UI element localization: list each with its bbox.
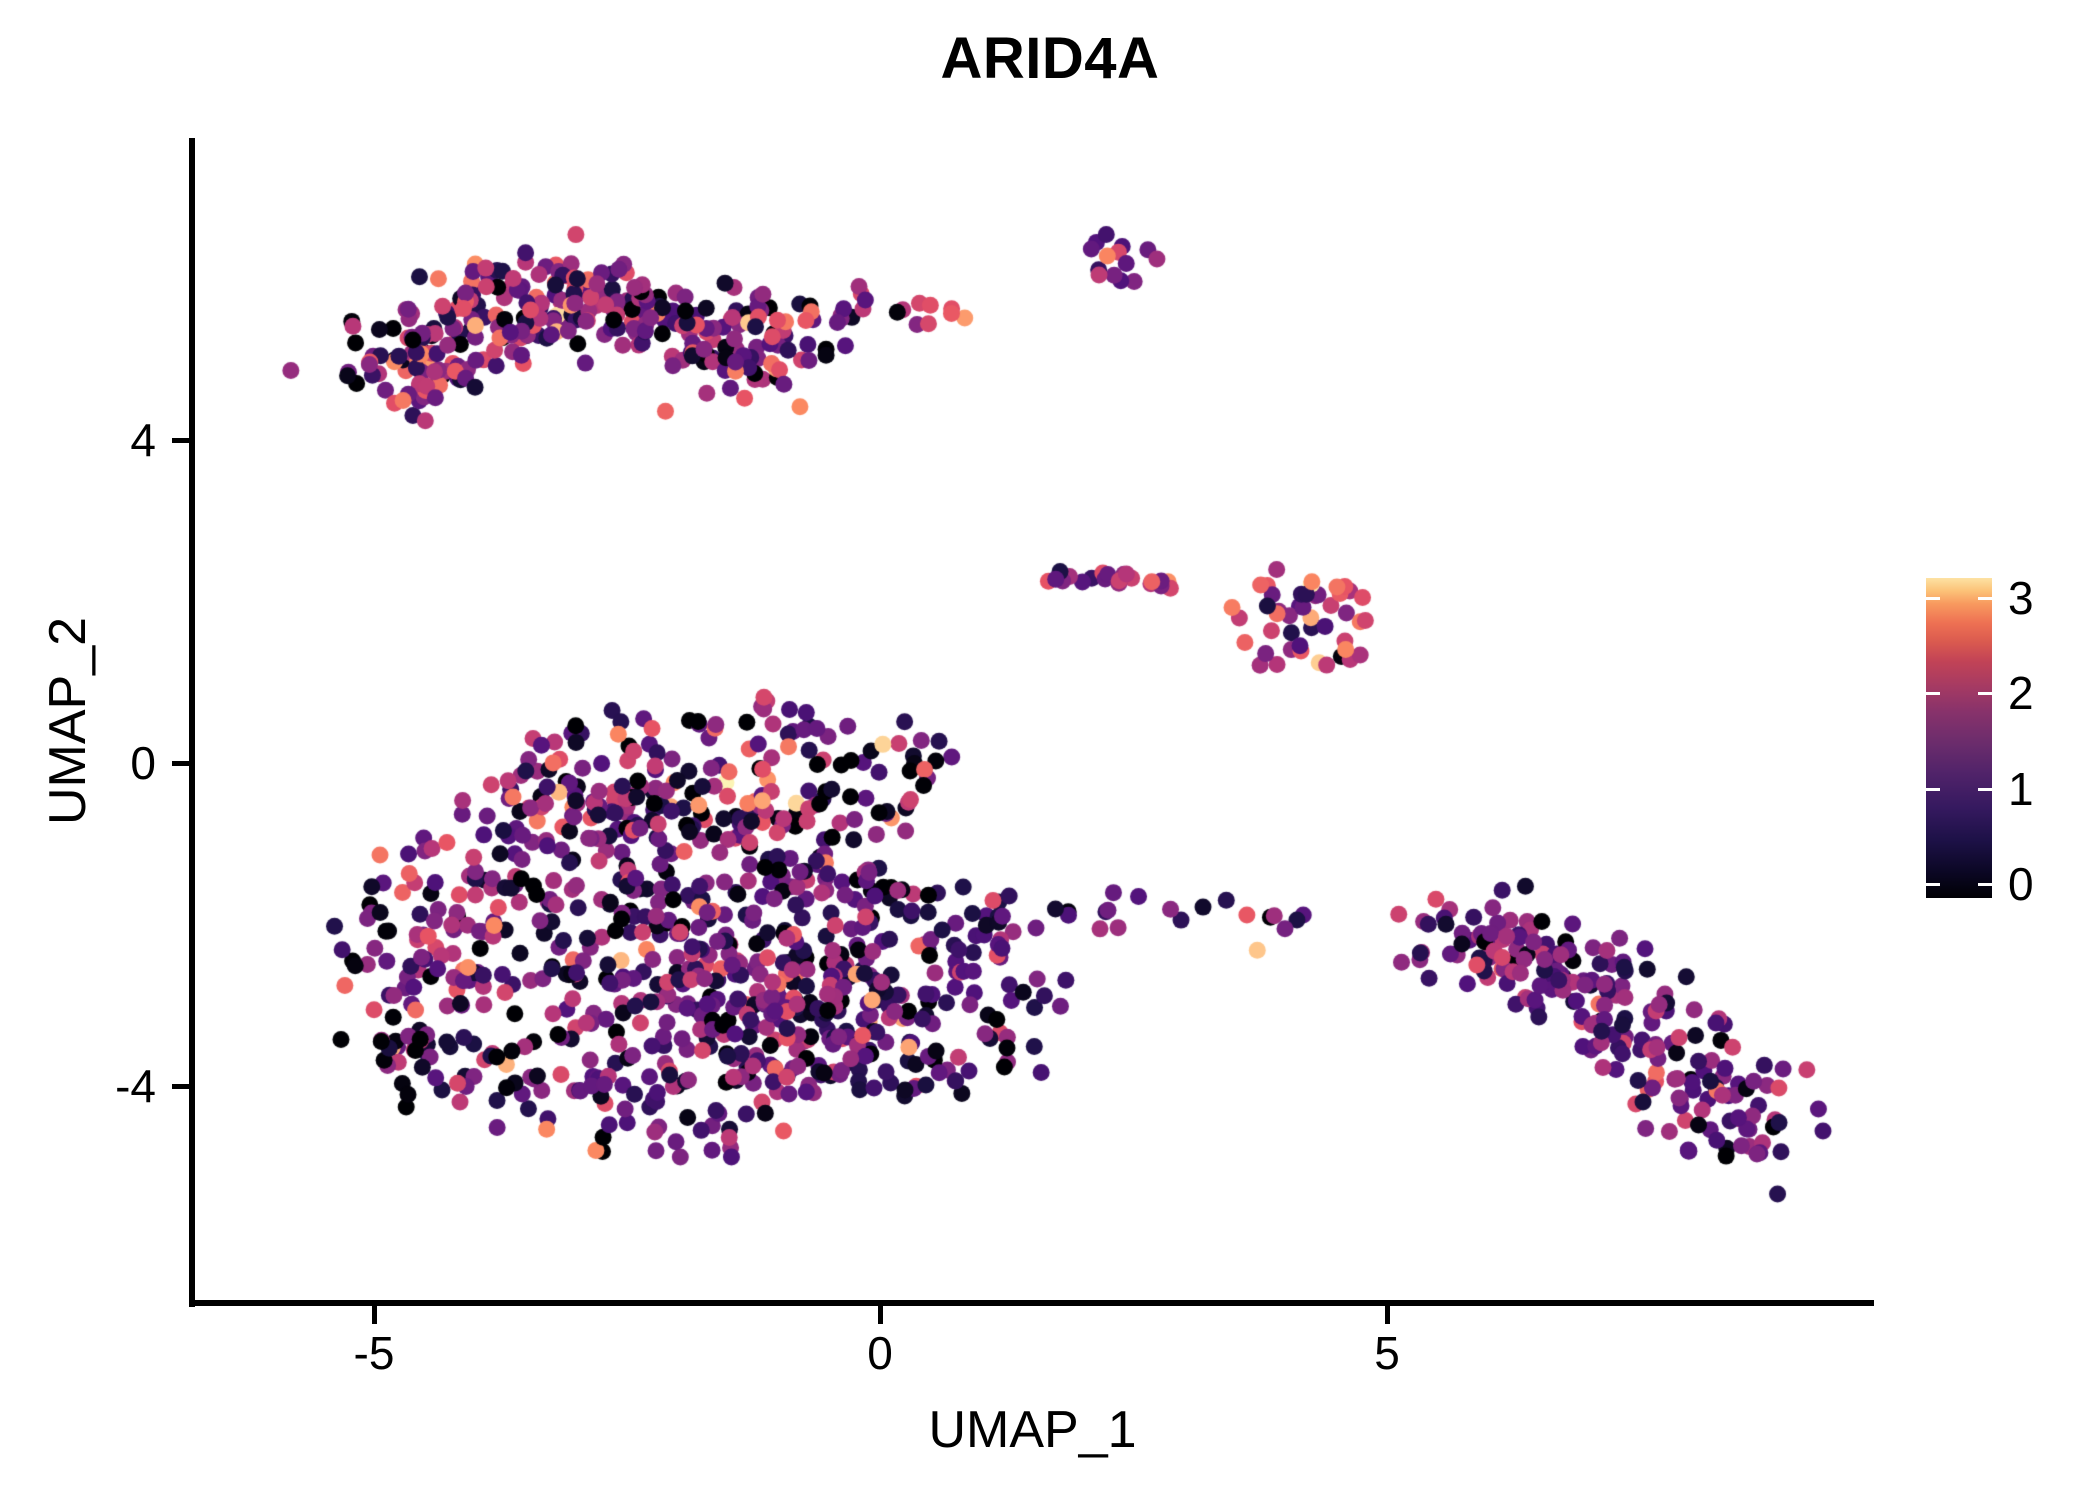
colorbar-tick-0-left: [1926, 883, 1940, 886]
plot-panel: [193, 140, 1872, 1303]
colorbar-tick-0-right: [1978, 883, 1992, 886]
colorbar-label-1: 1: [2008, 766, 2034, 812]
x-axis-label: UMAP_1: [193, 1400, 1872, 1460]
x-tick-label-0: 0: [820, 1330, 940, 1376]
y-axis-label: UMAP_2: [38, 371, 98, 1071]
colorbar-label-0: 0: [2008, 861, 2034, 907]
colorbar-tick-3-right: [1978, 597, 1992, 600]
x-axis-line: [190, 1300, 1874, 1306]
x-tick-mark-0: [878, 1306, 883, 1324]
colorbar-gradient: [1926, 578, 1992, 898]
colorbar-label-3: 3: [2008, 575, 2034, 621]
colorbar-legend: 3 2 1 0: [1920, 570, 2080, 910]
y-axis-line: [189, 138, 195, 1307]
y-tick-mark-4: [172, 438, 190, 443]
scatter-points-canvas: [193, 140, 1872, 1303]
x-tick-label-5: 5: [1327, 1330, 1447, 1376]
colorbar-tick-1-right: [1978, 788, 1992, 791]
colorbar-tick-1-left: [1926, 788, 1940, 791]
x-tick-mark-5: [1385, 1306, 1390, 1324]
x-tick-label-neg5: -5: [314, 1330, 434, 1376]
feature-plot-figure: ARID4A 4 0 -4 -5 0 5 UMAP_1 UMAP_2 3 2 1…: [0, 0, 2100, 1500]
y-tick-mark-neg4: [172, 1084, 190, 1089]
page-title: ARID4A: [0, 24, 2100, 94]
colorbar-label-2: 2: [2008, 670, 2034, 716]
x-tick-mark-neg5: [372, 1306, 377, 1324]
y-tick-mark-0: [172, 761, 190, 766]
colorbar-tick-3-left: [1926, 597, 1940, 600]
colorbar-tick-2-left: [1926, 692, 1940, 695]
colorbar-tick-2-right: [1978, 692, 1992, 695]
